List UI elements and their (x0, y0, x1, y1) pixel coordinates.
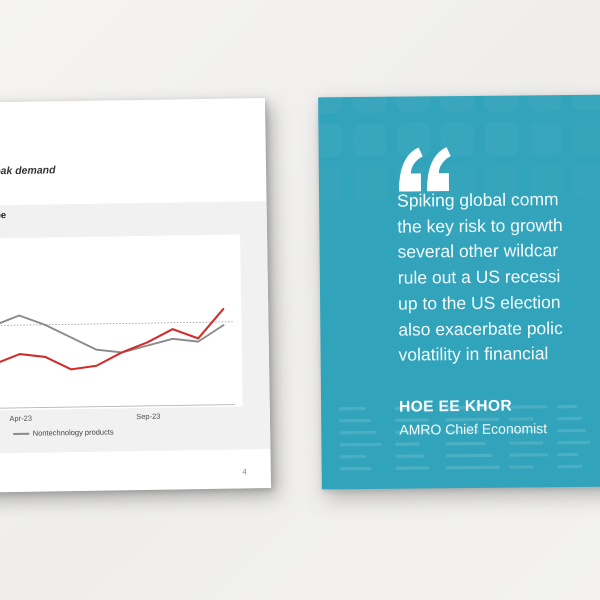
pattern-square (484, 95, 518, 112)
pattern-square (318, 95, 342, 114)
pattern-square (572, 121, 600, 155)
slide-footnote: AMRO staff calculations. rt values in US… (0, 457, 213, 490)
ghost-table-cell (509, 441, 543, 445)
quote-line: Spiking global comm (397, 186, 600, 215)
chart-x-tick-label: Apr-23 (9, 414, 32, 423)
ghost-table-cell (396, 466, 430, 470)
line-chart (0, 234, 243, 413)
ghost-table-cell (340, 467, 372, 471)
pattern-square (318, 167, 343, 201)
ghost-table-cell (557, 429, 586, 432)
quote-author-role: AMRO Chief Economist (399, 420, 547, 437)
quote-line: also exacerbate polic (398, 314, 600, 343)
pattern-square (354, 299, 388, 320)
quote-line: the key risk to growth (397, 211, 600, 240)
quote-line: up to the US election (398, 289, 600, 318)
pattern-square (528, 95, 562, 112)
ghost-table-cell (557, 417, 582, 420)
page-number: 4 (242, 467, 247, 476)
legend-swatch-icon (13, 432, 29, 434)
quote-text: Spiking global commthe key risk to growt… (397, 186, 600, 369)
chart-series-line (0, 277, 224, 360)
pattern-square (352, 95, 386, 113)
quote-line: several other wildcar (397, 237, 600, 266)
ghost-table-cell (510, 453, 548, 457)
ghost-table-cell (558, 465, 583, 468)
pattern-square (440, 95, 474, 113)
slide-subtitle: have started to recover, mitigating the … (0, 161, 234, 199)
pattern-square (318, 211, 343, 245)
chart-x-tick-label: Sep-23 (136, 412, 160, 421)
pattern-square (354, 255, 388, 289)
presentation-slide-chart[interactable]: mproving have started to recover, mitiga… (0, 98, 271, 496)
ghost-table-cell (446, 454, 493, 458)
ghost-table-cell (558, 453, 578, 456)
legend-item: Nontechnology products (13, 427, 114, 438)
pattern-square (352, 123, 386, 157)
ghost-table-cell (510, 465, 534, 468)
ghost-table-cell (446, 466, 500, 470)
pattern-square (318, 123, 343, 157)
ghost-table-cell (557, 441, 590, 445)
quote-line: rule out a US recessi (398, 263, 600, 292)
double-quote-glyph (395, 147, 455, 192)
footnote-line-3: emiconductor related). Data excludes Cam… (0, 475, 213, 491)
pattern-square (318, 299, 344, 319)
pattern-square (572, 95, 600, 111)
pattern-square (353, 167, 387, 201)
ghost-table-cell (339, 419, 371, 423)
ghost-table-cell (557, 405, 577, 408)
chart-plot-area (0, 234, 243, 413)
pattern-square (396, 95, 430, 113)
ghost-table-cell (339, 431, 376, 435)
screenshot-canvas: mproving have started to recover, mitiga… (0, 0, 600, 600)
legend-label: Nontechnology products (33, 427, 114, 437)
quote-line: volatility in financial (398, 340, 600, 369)
ghost-table-cell (509, 405, 547, 409)
ghost-table-cell (339, 407, 365, 410)
ghost-table-cell (395, 442, 419, 445)
ghost-table-cell (445, 442, 485, 446)
pattern-square (353, 211, 387, 245)
pattern-square (528, 121, 562, 155)
slide-subtitle-line-2: roducts (0, 176, 234, 199)
ghost-table-cell (396, 454, 425, 457)
quote-author-name: HOE EE KHOR (399, 398, 512, 417)
chart-series-line (0, 258, 225, 399)
ghost-table-cell (339, 443, 381, 447)
chart-reference-line (0, 322, 233, 329)
quote-card[interactable]: Spiking global commthe key risk to growt… (318, 95, 600, 490)
pattern-square (484, 121, 518, 155)
pattern-square (318, 255, 344, 289)
ghost-table-cell (340, 455, 366, 458)
